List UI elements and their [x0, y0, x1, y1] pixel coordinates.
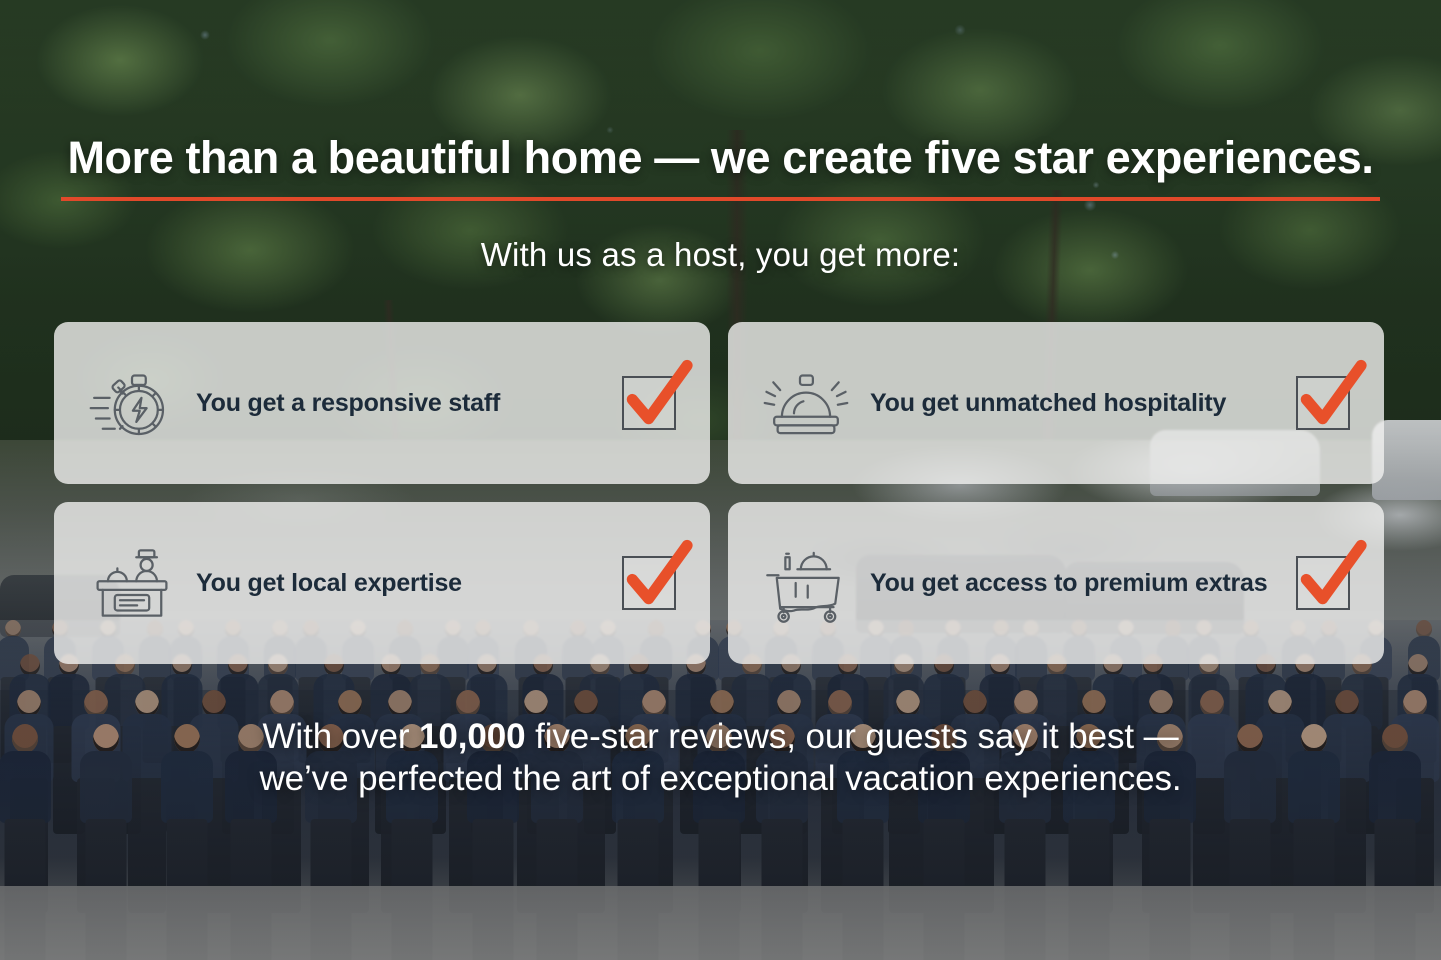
review-count: 10,000 [419, 717, 525, 756]
benefit-card[interactable]: You get a responsive staff [54, 322, 710, 484]
page-title: More than a beautiful home — we create f… [61, 134, 1379, 201]
stopwatch-bolt-icon [84, 355, 180, 451]
footer-line1-post: five-star reviews, our guests say it bes… [525, 717, 1178, 756]
footer-line-2: we’ve perfected the art of exceptional v… [0, 758, 1441, 800]
benefit-checkbox[interactable] [1296, 376, 1350, 430]
service-bell-icon [758, 355, 854, 451]
footer-copy: With over 10,000 five-star reviews, our … [0, 716, 1441, 800]
benefit-checkbox[interactable] [1296, 556, 1350, 610]
hero-content: More than a beautiful home — we create f… [0, 0, 1441, 960]
footer-line-1: With over 10,000 five-star reviews, our … [0, 716, 1441, 758]
benefit-checkbox[interactable] [622, 376, 676, 430]
reception-desk-icon [84, 535, 180, 631]
benefits-card-grid: You get a responsive staff You get unmat… [54, 322, 1388, 664]
benefit-card[interactable]: You get access to premium extras [728, 502, 1384, 664]
room-service-cart-icon [758, 535, 854, 631]
footer-line1-pre: With over [262, 717, 419, 756]
benefit-card-label: You get access to premium extras [854, 569, 1296, 598]
subheadline: With us as a host, you get more: [0, 236, 1441, 274]
benefit-card[interactable]: You get unmatched hospitality [728, 322, 1384, 484]
benefit-checkbox[interactable] [622, 556, 676, 610]
benefit-card[interactable]: You get local expertise [54, 502, 710, 664]
benefit-card-label: You get unmatched hospitality [854, 389, 1296, 418]
benefit-card-label: You get a responsive staff [180, 389, 622, 418]
benefit-card-label: You get local expertise [180, 569, 622, 598]
headline-container: More than a beautiful home — we create f… [0, 134, 1441, 201]
